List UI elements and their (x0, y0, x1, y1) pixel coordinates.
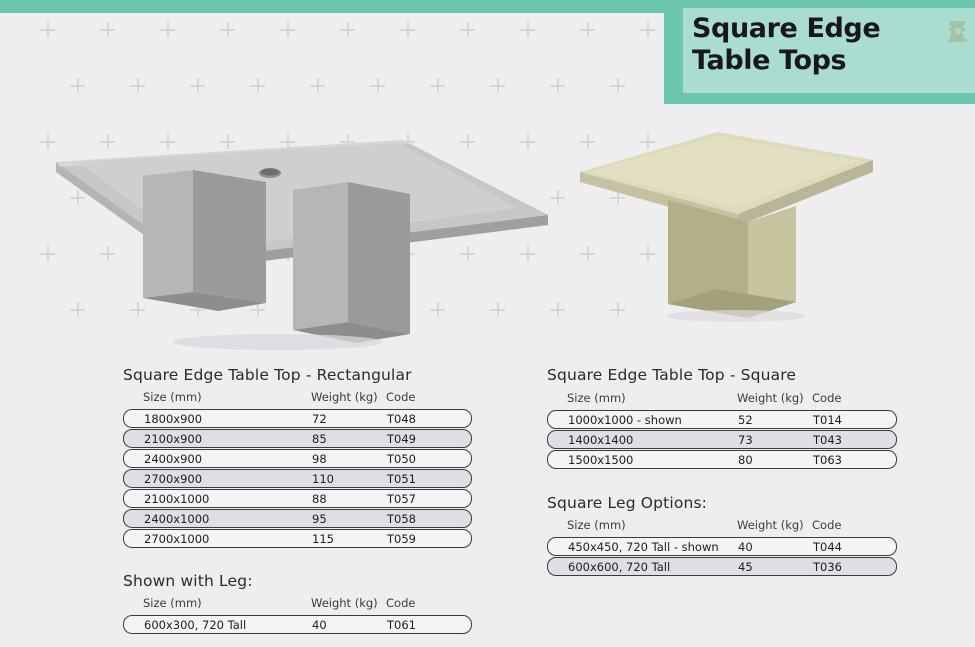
column-header-square-leg-options-1: Weight (kg) (737, 518, 804, 532)
cell-code: T061 (387, 618, 416, 632)
plus-ornament (250, 78, 265, 93)
cell-weight: 98 (312, 452, 327, 466)
cell-weight: 73 (738, 433, 753, 447)
section-title-square: Square Edge Table Top - Square (547, 366, 796, 384)
cell-weight: 85 (312, 432, 327, 446)
cell-size: 1500x1500 (568, 453, 633, 467)
plus-ornament (100, 22, 115, 37)
cell-code: T063 (813, 453, 842, 467)
column-header-square-0: Size (mm) (567, 391, 626, 405)
column-header-shown-with-leg-2: Code (386, 596, 415, 610)
column-header-shown-with-leg-1: Weight (kg) (311, 596, 378, 610)
plus-ornament (40, 22, 55, 37)
section-title-rectangular: Square Edge Table Top - Rectangular (123, 366, 412, 384)
cell-size: 2700x900 (144, 472, 202, 486)
rectangular-concrete-table-photo (38, 120, 558, 355)
cell-code: T051 (387, 472, 416, 486)
plus-ornament (430, 78, 445, 93)
cell-size: 1000x1000 - shown (568, 413, 682, 427)
plus-ornament (460, 22, 475, 37)
cell-weight: 80 (738, 453, 753, 467)
plus-ornament (610, 78, 625, 93)
top-teal-strip (0, 0, 664, 13)
cell-weight: 52 (738, 413, 753, 427)
plus-ornament (580, 22, 595, 37)
cell-code: T043 (813, 433, 842, 447)
plus-ornament (160, 22, 175, 37)
cell-size: 450x450, 720 Tall - shown (568, 540, 719, 554)
table-row: 450x450, 720 Tall - shown40T044 (547, 537, 897, 556)
column-header-square-leg-options-0: Size (mm) (567, 518, 626, 532)
plus-ornament (400, 22, 415, 37)
table-row: 600x300, 720 Tall40T061 (123, 615, 472, 634)
plus-ornament (310, 78, 325, 93)
cell-weight: 45 (738, 560, 753, 574)
cell-code: T044 (813, 540, 842, 554)
table-row: 1400x140073T043 (547, 430, 897, 449)
plus-ornament (70, 78, 85, 93)
plus-ornament (130, 78, 145, 93)
plus-ornament (340, 22, 355, 37)
square-concrete-table-photo (568, 122, 888, 322)
table-row: 600x600, 720 Tall45T036 (547, 557, 897, 576)
company-crest-logo-icon (946, 17, 970, 47)
plus-ornament (520, 22, 535, 37)
column-header-square-1: Weight (kg) (737, 391, 804, 405)
table-row: 1800x90072T048 (123, 409, 472, 428)
table-row: 1000x1000 - shown52T014 (547, 410, 897, 429)
cell-size: 2400x900 (144, 452, 202, 466)
column-header-rectangular-1: Weight (kg) (311, 390, 378, 404)
plus-ornament (280, 22, 295, 37)
column-header-rectangular-2: Code (386, 390, 415, 404)
cell-weight: 95 (312, 512, 327, 526)
cell-size: 600x300, 720 Tall (144, 618, 246, 632)
cell-size: 2700x1000 (144, 532, 209, 546)
column-header-shown-with-leg-0: Size (mm) (143, 596, 202, 610)
cell-size: 2400x1000 (144, 512, 209, 526)
cell-size: 1400x1400 (568, 433, 633, 447)
plus-ornament (640, 22, 655, 37)
plus-ornament (220, 22, 235, 37)
cell-code: T014 (813, 413, 842, 427)
column-header-square-2: Code (812, 391, 841, 405)
cell-size: 1800x900 (144, 412, 202, 426)
cell-weight: 115 (312, 532, 334, 546)
column-header-square-leg-options-2: Code (812, 518, 841, 532)
cell-weight: 88 (312, 492, 327, 506)
catalog-page: Square Edge Table Tops Square Edge Table… (0, 0, 975, 647)
table-row: 2400x90098T050 (123, 449, 472, 468)
cell-code: T058 (387, 512, 416, 526)
plus-ornament (370, 78, 385, 93)
section-title-shown-with-leg: Shown with Leg: (123, 572, 253, 590)
table-row: 2700x1000115T059 (123, 529, 472, 548)
cell-code: T050 (387, 452, 416, 466)
cell-code: T036 (813, 560, 842, 574)
table-row: 2100x100088T057 (123, 489, 472, 508)
cell-code: T049 (387, 432, 416, 446)
cell-code: T048 (387, 412, 416, 426)
cell-code: T057 (387, 492, 416, 506)
table-row: 2700x900110T051 (123, 469, 472, 488)
column-header-rectangular-0: Size (mm) (143, 390, 202, 404)
section-title-square-leg-options: Square Leg Options: (547, 494, 707, 512)
plus-ornament (190, 78, 205, 93)
cell-weight: 40 (312, 618, 327, 632)
table-row: 2400x100095T058 (123, 509, 472, 528)
cell-size: 2100x1000 (144, 492, 209, 506)
cell-size: 2100x900 (144, 432, 202, 446)
cell-size: 600x600, 720 Tall (568, 560, 670, 574)
table-row: 1500x150080T063 (547, 450, 897, 469)
cell-weight: 110 (312, 472, 334, 486)
plus-ornament (490, 78, 505, 93)
cell-weight: 72 (312, 412, 327, 426)
table-row: 2100x90085T049 (123, 429, 472, 448)
page-title: Square Edge Table Tops (692, 13, 942, 77)
plus-ornament (550, 78, 565, 93)
cell-code: T059 (387, 532, 416, 546)
cell-weight: 40 (738, 540, 753, 554)
